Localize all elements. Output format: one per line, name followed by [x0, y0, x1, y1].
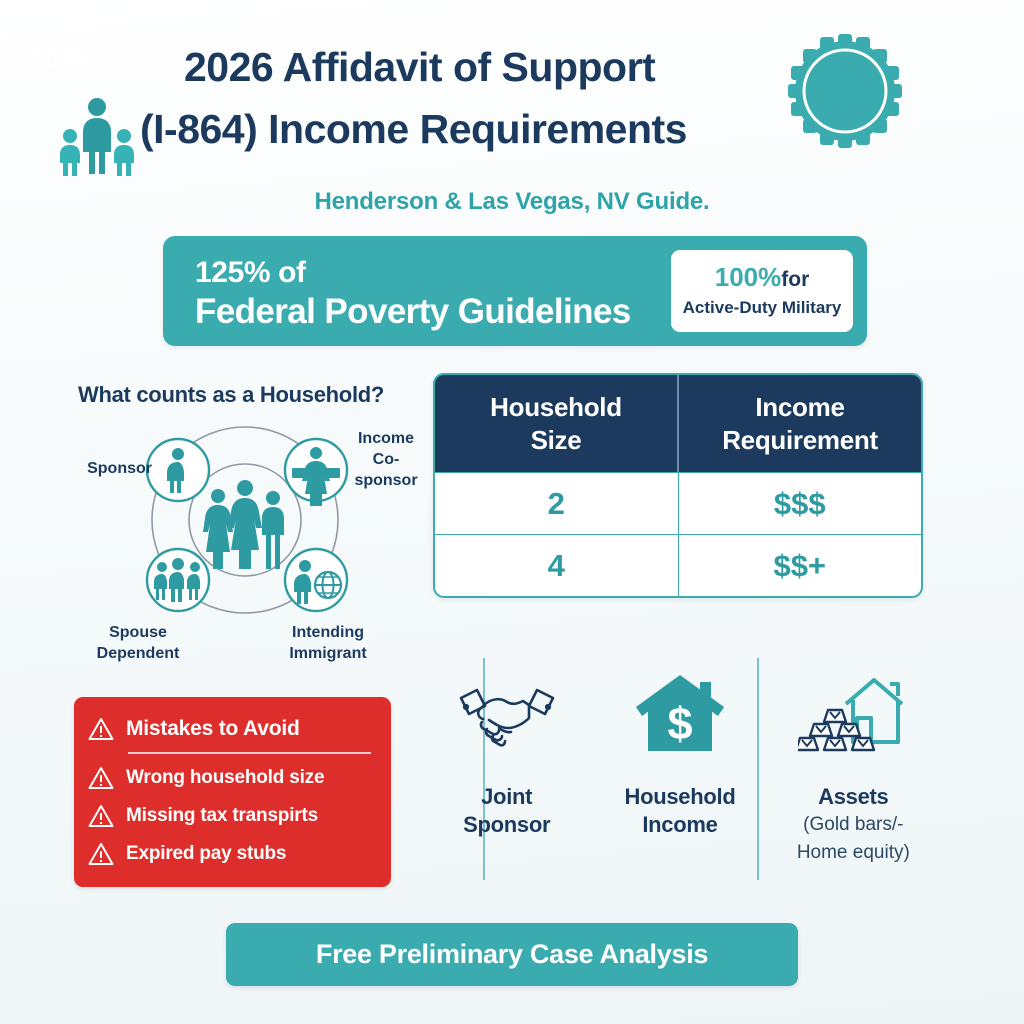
intending-immigrant-node: [285, 549, 347, 611]
cell-income-requirement: $$+: [679, 535, 922, 596]
gold-bars-house-icon: [798, 674, 908, 754]
header-col2-line2: Requirement: [722, 424, 878, 457]
fpg-guidelines-line: Federal Poverty Guidelines: [195, 292, 631, 332]
gold-bars-house-icon-wrap: [798, 666, 908, 761]
center-family-icon: [203, 480, 284, 569]
military-for-word: for: [781, 268, 809, 291]
infographic-canvas: 2026 Affidavit of Support (I-864) Income…: [0, 0, 1024, 1024]
label-immigrant-line-2: Immigrant: [258, 643, 398, 664]
table-row: 4 $$+: [435, 534, 921, 596]
badge-seal-icon: [786, 32, 904, 150]
military-label: Active-Duty Military: [683, 295, 842, 321]
option-label-household-income: Household Income: [625, 783, 736, 839]
poverty-guidelines-text: 125% of Federal Poverty Guidelines: [195, 254, 631, 332]
mistakes-divider: [128, 752, 371, 754]
handshake-icon-wrap: [455, 666, 559, 761]
option-label-line-2: Income: [625, 811, 736, 839]
option-label-assets: Assets: [818, 783, 888, 811]
table-header-income-requirement: Income Requirement: [679, 375, 921, 472]
label-co-sponsor-line-2: Co-: [340, 449, 432, 470]
label-sponsor: Sponsor: [62, 458, 152, 479]
year-badge-label: 2026: [0, 0, 118, 118]
warning-triangle-icon: [88, 842, 114, 866]
mistake-item-label: Wrong household size: [126, 767, 324, 789]
subtitle: Henderson & Las Vegas, NV Guide.: [0, 188, 1024, 216]
mistake-item: Wrong household size: [88, 759, 377, 797]
option-label-line-1: Assets: [818, 783, 888, 811]
mistakes-title-row: Mistakes to Avoid: [88, 709, 377, 749]
label-spouse-line-2: Dependent: [68, 643, 208, 664]
mistakes-title: Mistakes to Avoid: [126, 717, 300, 741]
option-label-line-1: Household: [625, 783, 736, 811]
table-header-row: Household Size Income Requirement: [435, 375, 921, 472]
label-immigrant-line-1: Intending: [258, 622, 398, 643]
option-sublabel-line-2: Home equity): [797, 839, 910, 867]
warning-triangle-icon: [88, 766, 114, 790]
warning-triangle-icon: [88, 717, 114, 741]
header-col2-line1: Income: [722, 391, 878, 424]
warning-triangle-icon: [88, 804, 114, 828]
cell-income-requirement: $$$: [679, 473, 922, 534]
mistake-item-label: Expired pay stubs: [126, 843, 286, 865]
label-co-sponsor-line-1: Income: [340, 428, 432, 449]
household-heading: What counts as a Household?: [78, 382, 384, 408]
option-sublabel-assets: (Gold bars/- Home equity): [797, 811, 910, 867]
label-spouse-line-1: Spouse: [68, 622, 208, 643]
title-line-1: 2026 Affidavit of Support: [140, 36, 840, 98]
fpg-percent-line: 125% of: [195, 254, 631, 292]
option-label-line-2: Sponsor: [463, 811, 550, 839]
poverty-guidelines-banner: 125% of Federal Poverty Guidelines 100%f…: [163, 236, 867, 346]
mistake-item-label: Missing tax transpirts: [126, 805, 318, 827]
military-exception-card: 100%for Active-Duty Military: [671, 250, 853, 332]
header-col1-line2: Size: [490, 424, 622, 457]
option-sublabel-line-1: (Gold bars/-: [797, 811, 910, 839]
svg-text:$: $: [667, 698, 692, 749]
label-co-sponsor-line-3: sponsor: [340, 470, 432, 491]
label-income-co-sponsor: Income Co- sponsor: [340, 428, 432, 491]
label-intending-immigrant: Intending Immigrant: [258, 622, 398, 664]
table-header-household-size: Household Size: [435, 375, 679, 472]
cell-household-size: 4: [435, 535, 679, 596]
option-household-income: $ Household Income: [593, 650, 766, 890]
option-assets: Assets (Gold bars/- Home equity): [767, 650, 940, 890]
house-dollar-icon: $: [634, 671, 726, 757]
option-label-joint-sponsor: Joint Sponsor: [463, 783, 550, 839]
header-col1-line1: Household: [490, 391, 622, 424]
military-percent: 100%: [715, 262, 782, 292]
title-line-2: (I-864) Income Requirements: [140, 98, 840, 160]
handshake-icon: [455, 678, 559, 750]
page-title: 2026 Affidavit of Support (I-864) Income…: [140, 36, 840, 160]
co-sponsor-node: [285, 439, 347, 506]
house-dollar-icon-wrap: $: [634, 666, 726, 761]
spouse-dependent-node: [147, 549, 209, 611]
sponsor-node: [147, 439, 209, 501]
free-case-analysis-button[interactable]: Free Preliminary Case Analysis: [226, 923, 798, 986]
income-requirement-table: Household Size Income Requirement 2 $$$ …: [433, 373, 923, 598]
table-row: 2 $$$: [435, 472, 921, 534]
income-options-row: Joint Sponsor $ Household Income: [420, 650, 940, 890]
option-label-line-1: Joint: [463, 783, 550, 811]
mistake-item: Missing tax transpirts: [88, 797, 377, 835]
mistakes-to-avoid-box: Mistakes to Avoid Wrong household size M…: [74, 697, 391, 887]
mistake-item: Expired pay stubs: [88, 835, 377, 873]
label-spouse-dependent: Spouse Dependent: [68, 622, 208, 664]
option-joint-sponsor: Joint Sponsor: [420, 650, 593, 890]
military-percent-line: 100%for: [715, 262, 810, 295]
cell-household-size: 2: [435, 473, 679, 534]
